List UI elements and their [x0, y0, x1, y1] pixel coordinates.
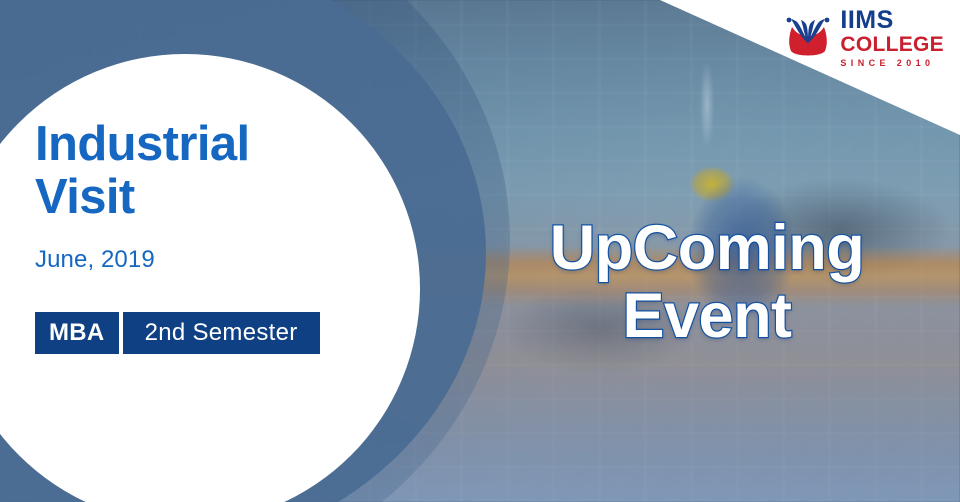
badge-program-label: MBA	[35, 312, 119, 354]
event-banner: Industrial Visit June, 2019 MBA 2nd Seme…	[0, 0, 960, 502]
event-title-line1: Industrial	[35, 117, 250, 171]
logo-name: IIMS	[840, 8, 944, 33]
logo-subtitle: COLLEGE	[840, 34, 944, 55]
logo-since: SINCE 2010	[840, 59, 944, 68]
headline-line2: Event	[472, 282, 942, 350]
event-date: June, 2019	[35, 246, 365, 274]
iims-college-logo: IIMS COLLEGE SINCE 2010	[782, 8, 944, 68]
event-title: Industrial Visit	[35, 118, 365, 224]
badge-semester-label: 2nd Semester	[123, 312, 320, 354]
headline-line1: UpComing	[472, 214, 942, 282]
event-title-line2: Visit	[35, 171, 365, 224]
logo-text-block: IIMS COLLEGE SINCE 2010	[840, 8, 944, 68]
iims-v-emblem-icon	[782, 17, 834, 59]
program-badge: MBA 2nd Semester	[35, 312, 320, 354]
left-content-panel: Industrial Visit June, 2019 MBA 2nd Seme…	[35, 118, 365, 354]
headline: UpComing Event	[472, 214, 942, 350]
